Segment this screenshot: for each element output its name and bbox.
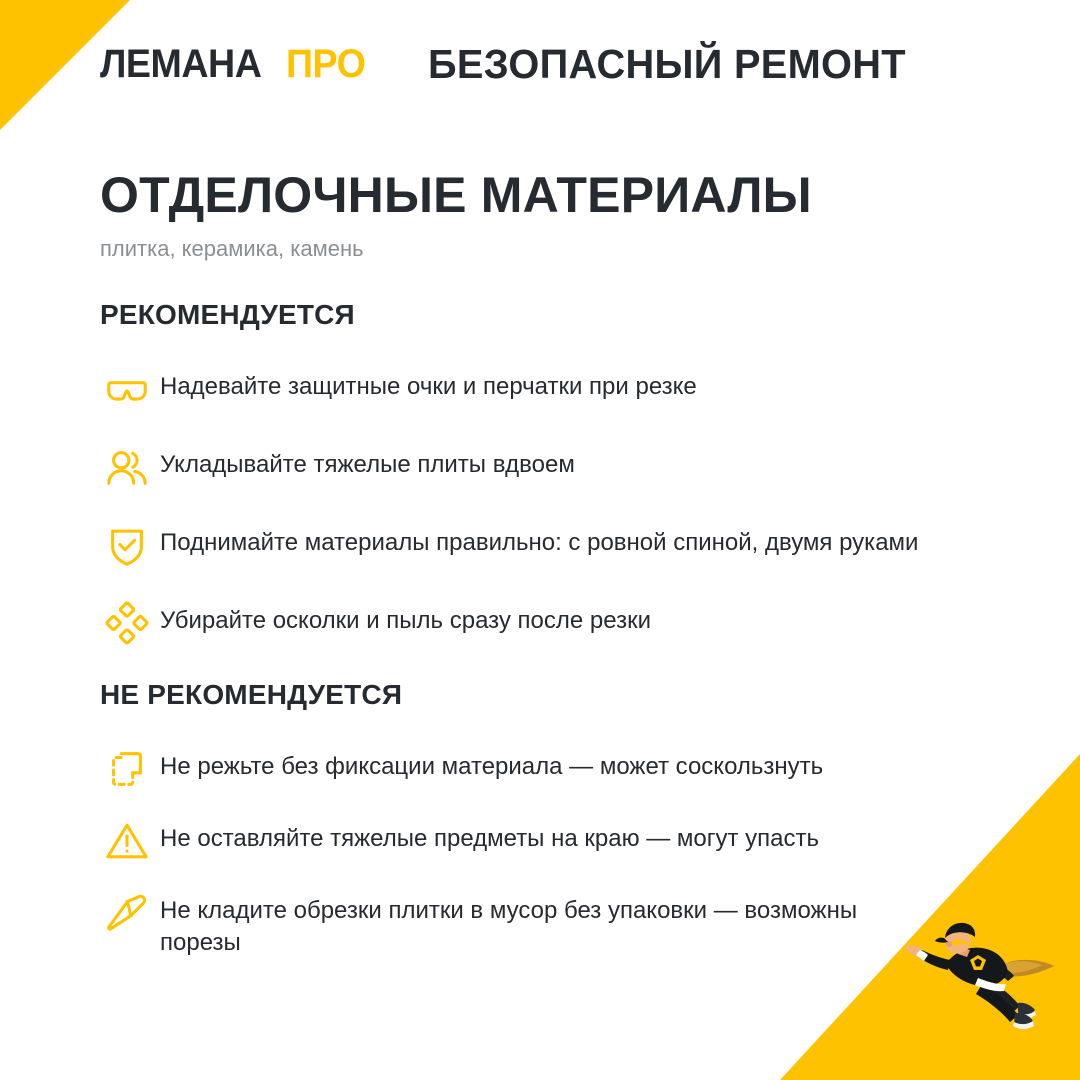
section-not-recommended: НЕ РЕКОМЕНДУЕТСЯ Не режьте без фиксации … xyxy=(100,680,980,976)
title-block: ОТДЕЛОЧНЫЕ МАТЕРИАЛЫ плитка, керамика, к… xyxy=(100,168,812,262)
header: ЛЕМАНА ПРО БЕЗОПАСНЫЙ РЕМОНТ xyxy=(0,0,1080,128)
logo-primary-text: ЛЕМАНА xyxy=(100,42,261,87)
page-subtitle: плитка, керамика, камень xyxy=(100,236,812,262)
list-item-label: Убирайте осколки и пыль сразу после резк… xyxy=(160,595,920,638)
unfixed-square-icon xyxy=(100,741,160,797)
list-item-label: Поднимайте материалы правильно: с ровной… xyxy=(160,517,920,560)
safety-goggles-icon xyxy=(100,361,160,417)
list-item: Надевайте защитные очки и перчатки при р… xyxy=(100,361,980,417)
list-item: Поднимайте материалы правильно: с ровной… xyxy=(100,517,980,573)
recommended-list: Надевайте защитные очки и перчатки при р… xyxy=(100,361,980,651)
warning-triangle-icon xyxy=(100,813,160,869)
list-item: Убирайте осколки и пыль сразу после резк… xyxy=(100,595,980,651)
brand-logo: ЛЕМАНА ПРО xyxy=(100,42,370,87)
list-item: Укладывайте тяжелые плиты вдвоем xyxy=(100,439,980,495)
poster: ЛЕМАНА ПРО БЕЗОПАСНЫЙ РЕМОНТ ОТДЕЛОЧНЫЕ … xyxy=(0,0,1080,1080)
header-tagline: БЕЗОПАСНЫЙ РЕМОНТ xyxy=(428,41,906,88)
page-title: ОТДЕЛОЧНЫЕ МАТЕРИАЛЫ xyxy=(100,168,812,222)
flying-superhero-worker-illustration xyxy=(896,914,1066,1044)
list-item: Не кладите обрезки плитки в мусор без уп… xyxy=(100,885,980,960)
section-recommended: РЕКОМЕНДУЕТСЯ Надевайте защитные очки и … xyxy=(100,300,980,651)
knife-icon xyxy=(100,885,160,941)
section-heading-not-recommended: НЕ РЕКОМЕНДУЕТСЯ xyxy=(100,680,980,711)
two-people-icon xyxy=(100,439,160,495)
logo-secondary-text: ПРО xyxy=(286,42,365,87)
list-item-label: Не кладите обрезки плитки в мусор без уп… xyxy=(160,885,920,960)
four-diamonds-icon xyxy=(100,595,160,651)
section-heading-recommended: РЕКОМЕНДУЕТСЯ xyxy=(100,300,980,331)
list-item: Не оставляйте тяжелые предметы на краю —… xyxy=(100,813,980,869)
list-item-label: Не оставляйте тяжелые предметы на краю —… xyxy=(160,813,920,856)
list-item-label: Надевайте защитные очки и перчатки при р… xyxy=(160,361,920,404)
shield-check-icon xyxy=(100,517,160,573)
list-item: Не режьте без фиксации материала — может… xyxy=(100,741,980,797)
not-recommended-list: Не режьте без фиксации материала — может… xyxy=(100,741,980,960)
list-item-label: Укладывайте тяжелые плиты вдвоем xyxy=(160,439,920,482)
list-item-label: Не режьте без фиксации материала — может… xyxy=(160,741,920,784)
